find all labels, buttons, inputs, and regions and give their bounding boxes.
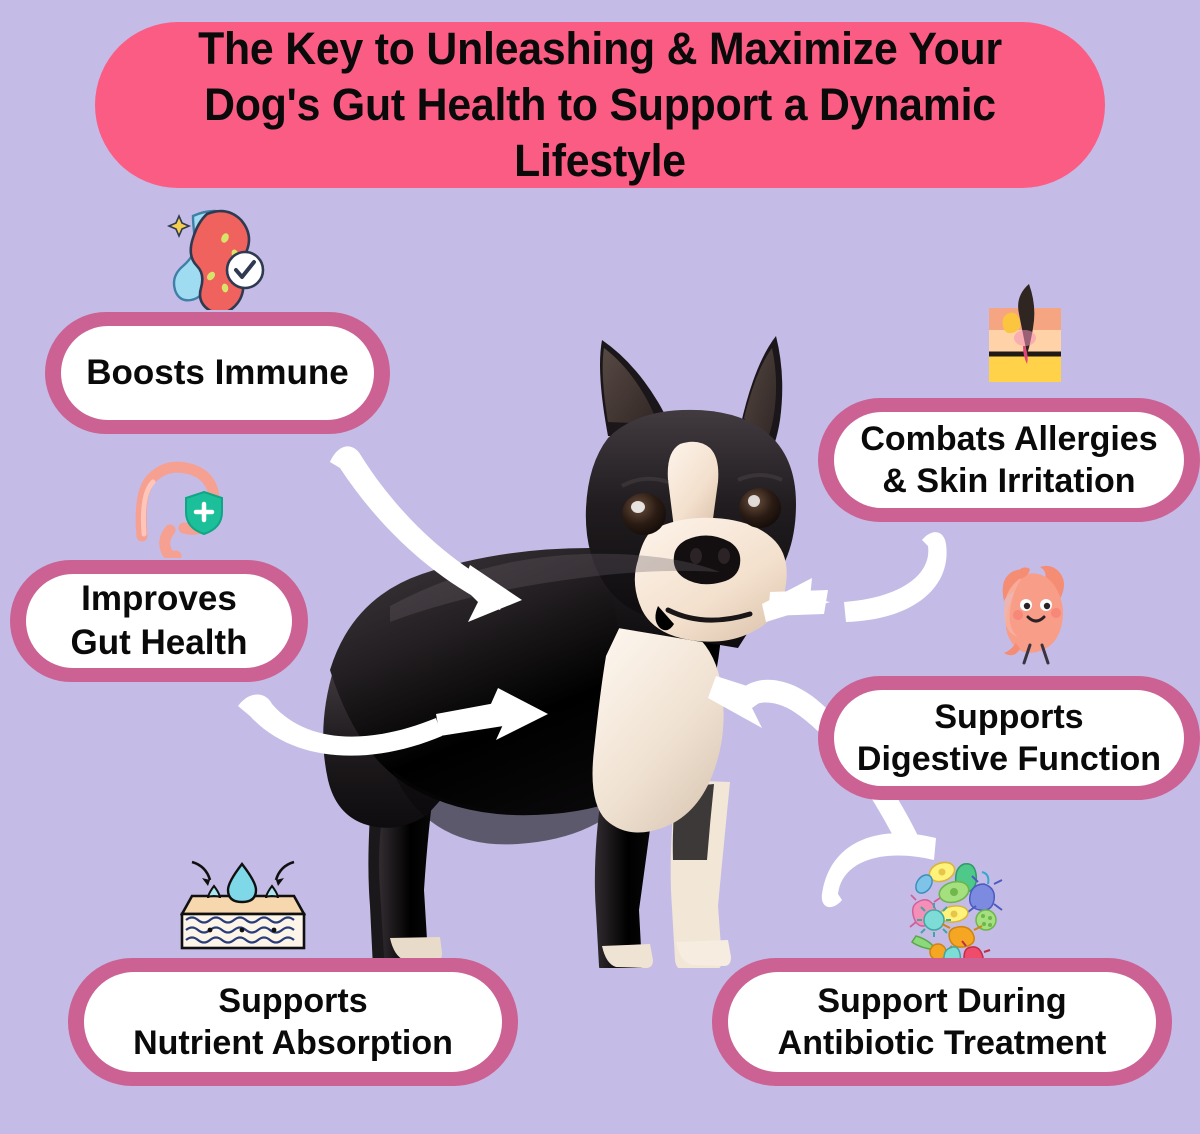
- stomach-shield-check-icon: [163, 198, 271, 310]
- absorption-dot-2: [240, 928, 245, 933]
- benefit-label-antibiotic: Support During Antibiotic Treatment: [778, 980, 1107, 1065]
- stomach-cheek-right: [1051, 608, 1061, 618]
- stomach-eye-right-pupil: [1044, 603, 1050, 609]
- droplet-small-right: [266, 886, 278, 898]
- absorption-dot-1: [208, 928, 213, 933]
- absorb-arrow-left: [192, 862, 210, 880]
- dog-ear-left-inner: [603, 348, 657, 424]
- water-droplet-icon: [228, 864, 256, 902]
- benefit-pill-digestive[interactable]: Supports Digestive Function: [818, 676, 1200, 800]
- page-title: The Key to Unleashing & Maximize Your Do…: [153, 21, 1048, 190]
- flexing-stomach-icon: [978, 565, 1086, 673]
- stomach-cheek-left: [1013, 610, 1023, 620]
- benefit-pill-inner: Combats Allergies & Skin Irritation: [834, 412, 1184, 508]
- absorb-arrow-right: [276, 862, 294, 880]
- immune-check-badge: [227, 252, 263, 288]
- dog-nose: [674, 535, 741, 584]
- benefit-pill-nutrient[interactable]: Supports Nutrient Absorption: [68, 958, 518, 1086]
- benefit-pill-inner: Improves Gut Health: [26, 574, 292, 668]
- skin-hair-follicle-icon: [975, 278, 1075, 390]
- benefit-pill-antibiotic[interactable]: Support During Antibiotic Treatment: [712, 958, 1172, 1086]
- benefit-label-allergies: Combats Allergies & Skin Irritation: [860, 418, 1157, 503]
- absorption-dot-3: [272, 928, 277, 933]
- dog-nostril-left: [690, 548, 702, 564]
- dog-eye-right-highlight: [748, 495, 760, 507]
- benefit-label-digestive: Supports Digestive Function: [857, 696, 1161, 781]
- dog-nostril-right: [718, 548, 730, 564]
- benefit-pill-allergies[interactable]: Combats Allergies & Skin Irritation: [818, 398, 1200, 522]
- absorption-layers-droplet-icon: [180, 858, 306, 956]
- microbe-nucleus-2: [950, 888, 958, 896]
- dog-eye-left-highlight: [631, 501, 645, 513]
- intestine-shield-icon: [126, 458, 236, 558]
- benefit-pill-gut[interactable]: Improves Gut Health: [10, 560, 308, 682]
- dog-eye-left: [622, 493, 666, 535]
- follicle-bulb: [1014, 330, 1036, 346]
- benefit-label-immune: Boosts Immune: [86, 351, 349, 395]
- microbiome-cluster-icon: [898, 856, 1010, 968]
- benefit-pill-inner: Support During Antibiotic Treatment: [728, 972, 1156, 1072]
- microbe-flagellum: [982, 872, 988, 884]
- dog-eye-right: [739, 488, 781, 528]
- dog-face-blaze: [668, 442, 719, 528]
- microbe-orange-ameoba: [949, 927, 974, 947]
- microbe-star-blue: [970, 884, 995, 910]
- microbe-shapes: [910, 859, 1002, 968]
- benefit-pill-inner: Supports Digestive Function: [834, 690, 1184, 786]
- microbe-teal-virus: [924, 910, 944, 930]
- droplet-small-left: [208, 886, 220, 898]
- sparkle-icon: [169, 216, 189, 236]
- benefit-pill-immune[interactable]: Boosts Immune: [45, 312, 390, 434]
- infographic-poster: The Key to Unleashing & Maximize Your Do…: [0, 0, 1200, 1134]
- microbe-nucleus-1: [939, 869, 946, 876]
- title-banner: The Key to Unleashing & Maximize Your Do…: [95, 22, 1105, 188]
- benefit-label-nutrient: Supports Nutrient Absorption: [133, 980, 453, 1065]
- stomach-eye-left-pupil: [1024, 603, 1030, 609]
- benefit-pill-inner: Boosts Immune: [61, 326, 374, 420]
- benefit-pill-inner: Supports Nutrient Absorption: [84, 972, 502, 1072]
- microbe-nucleus-3: [951, 911, 958, 918]
- skin-layer-fat: [989, 356, 1061, 382]
- benefit-label-gut: Improves Gut Health: [71, 577, 248, 665]
